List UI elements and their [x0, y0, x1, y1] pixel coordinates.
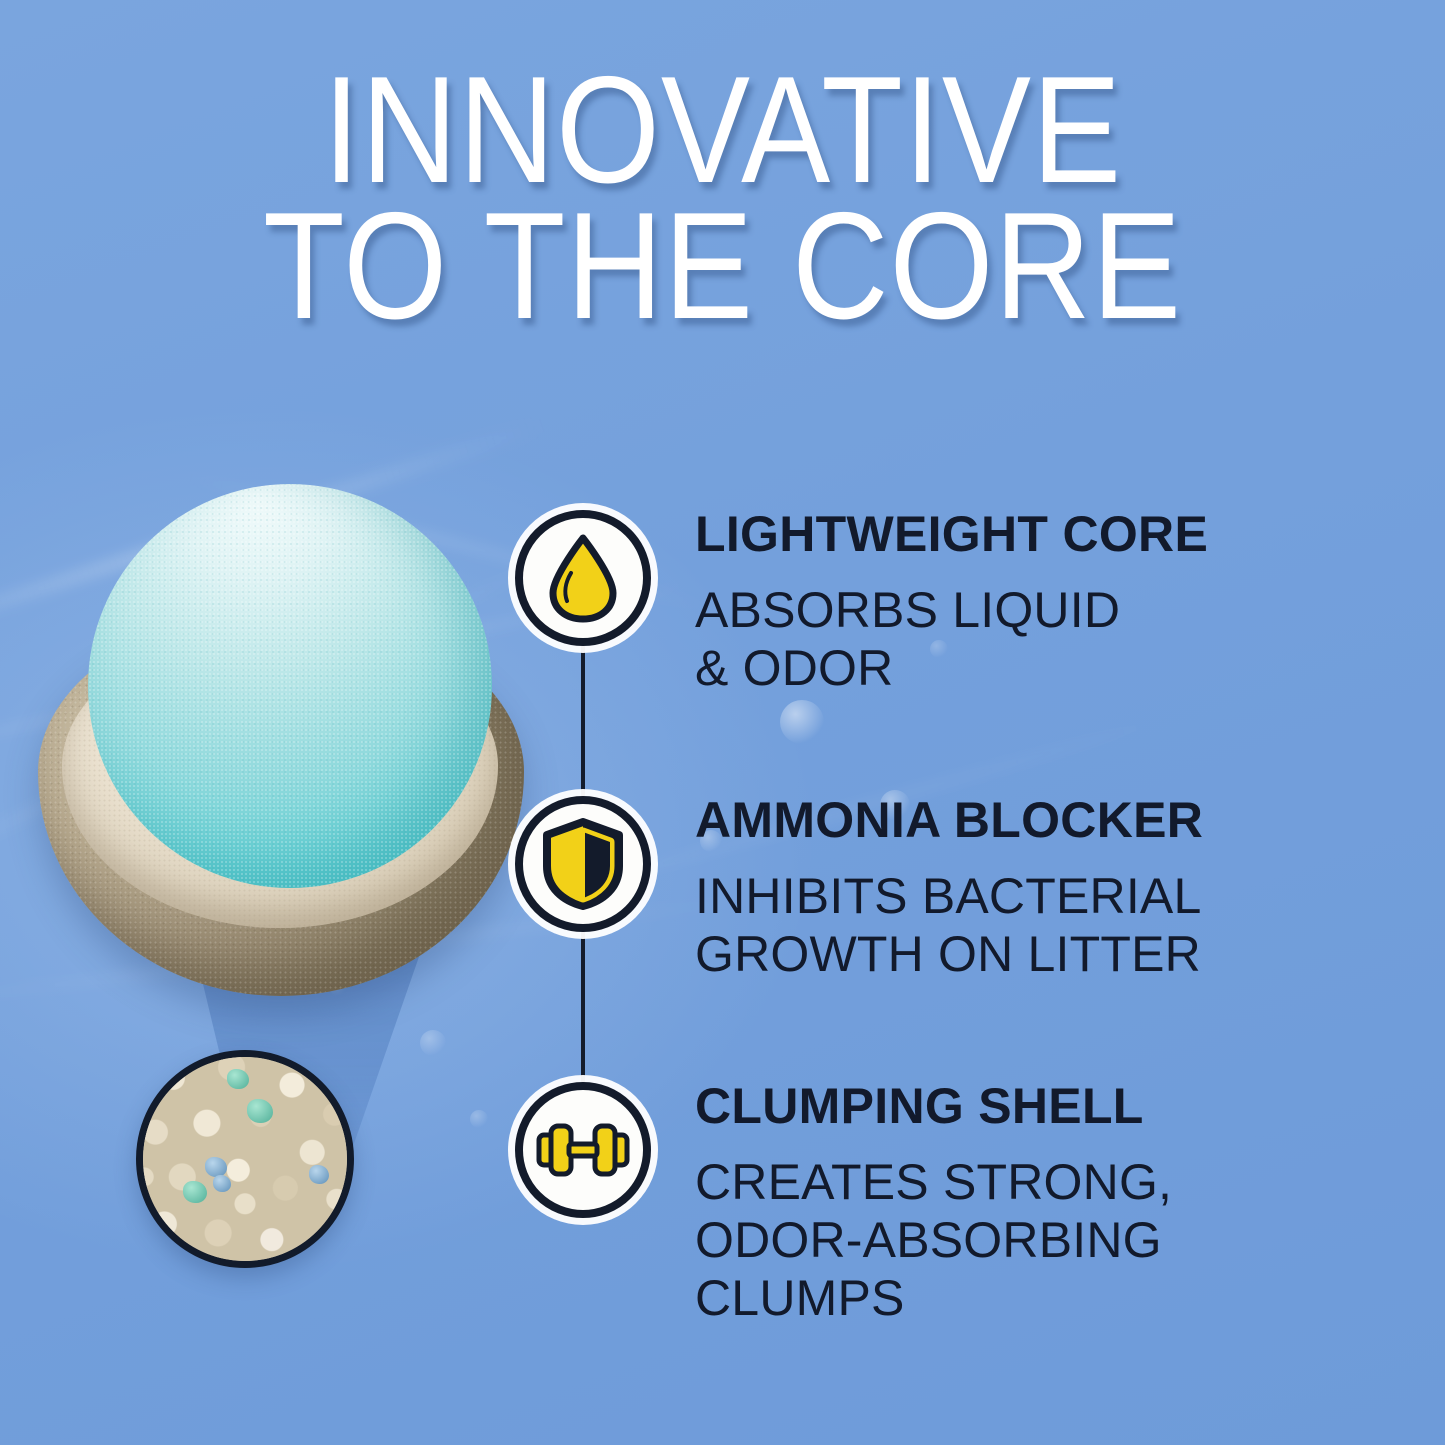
dumbbell-icon	[515, 1082, 651, 1218]
feature-heading: CLUMPING SHELL	[695, 1078, 1395, 1135]
feature-list: LIGHTWEIGHT CORE ABSORBS LIQUID & ODOR A…	[0, 0, 1445, 1445]
connector-line	[581, 646, 585, 796]
feature-text: LIGHTWEIGHT CORE ABSORBS LIQUID & ODOR	[695, 488, 1395, 715]
infographic-canvas: INNOVATIVE TO THE CORE	[0, 0, 1445, 1445]
feature-text: CLUMPING SHELL CREATES STRONG, ODOR-ABSO…	[695, 1060, 1395, 1345]
dumbbell-glyph	[535, 1119, 631, 1181]
shield-icon	[515, 796, 651, 932]
droplet-icon	[515, 510, 651, 646]
feature-body: ABSORBS LIQUID & ODOR	[695, 581, 1395, 697]
feature-heading: AMMONIA BLOCKER	[695, 792, 1395, 849]
feature-text: AMMONIA BLOCKER INHIBITS BACTERIAL GROWT…	[695, 774, 1395, 1001]
feature-body: INHIBITS BACTERIAL GROWTH ON LITTER	[695, 867, 1395, 983]
shield-glyph	[541, 818, 625, 910]
connector-line	[581, 932, 585, 1082]
feature-heading: LIGHTWEIGHT CORE	[695, 506, 1395, 563]
feature-body: CREATES STRONG, ODOR-ABSORBING CLUMPS	[695, 1153, 1395, 1327]
droplet-glyph	[544, 533, 622, 623]
